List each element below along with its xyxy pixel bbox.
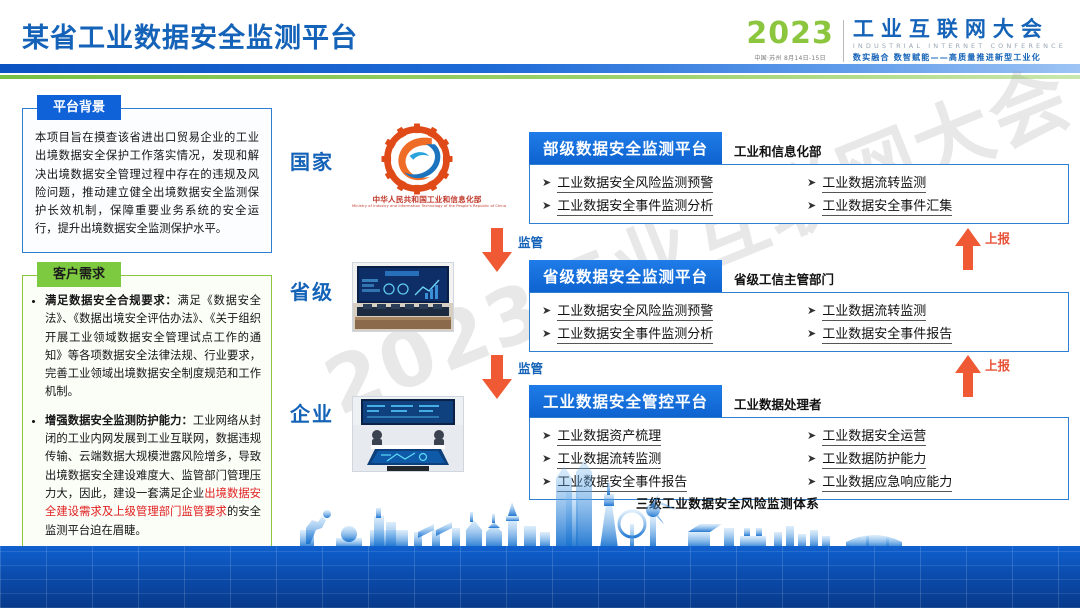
chevron-right-icon: ➤ [807,327,816,340]
feature-item[interactable]: ➤工业数据流转监测 [807,172,1062,193]
control-room-image [353,263,453,331]
provincial-platform-owner: 省级工信主管部门 [734,269,834,292]
floor-grid-pattern [0,546,1080,608]
conference-name-block: 工业互联网大会 INDUSTRIAL INTERNET CONFERENCE 数… [853,18,1066,63]
chevron-right-icon: ➤ [807,304,816,317]
conference-slogan: 数实融合 数智赋能——高质量推进新型工业化 [853,52,1066,63]
ministry-platform-owner: 工业和信息化部 [734,141,822,164]
list-item: 满足数据安全合规要求：满足《数据安全法》、《数据出境安全评估办法》、《关于组织开… [45,292,261,402]
platform-background-card: 平台背景 本项目旨在摸查该省进出口贸易企业的工业出境数据安全保护工作落实情况，发… [22,108,272,253]
enterprise-platform-owner: 工业数据处理者 [734,394,822,417]
conference-name-cn: 工业互联网大会 [853,18,1066,40]
report-label-1: 上报 [985,228,1010,247]
feature-label: 工业数据安全事件汇集 [822,195,952,216]
feature-item[interactable]: ➤工业数据流转监测 [807,300,1062,321]
chevron-right-icon: ➤ [542,429,551,442]
header-blue-rule [0,64,1080,73]
enterprise-platform-title[interactable]: 工业数据安全管控平台 [529,385,722,417]
floor-band [0,546,1080,608]
feature-label: 工业数据流转监测 [822,300,926,321]
conference-divider [843,20,844,62]
provincial-platform-features: ➤工业数据安全风险监测预警 ➤工业数据流转监测 ➤工业数据安全事件监测分析 ➤工… [529,292,1069,352]
slide-root: 某省工业数据安全监测平台 2023 中国·苏州 8月14日-15日 工业互联网大… [0,0,1080,608]
conference-date: 中国·苏州 8月14日-15日 [754,53,826,62]
platform-background-text: 本项目旨在摸查该省进出口贸易企业的工业出境数据安全保护工作落实情况，发现和解决出… [23,109,271,247]
gear-swoosh-icon [380,122,454,196]
feature-label: 工业数据安全事件报告 [822,323,952,344]
miit-logo: 中华人民共和国工业和信息化部 Ministry of Industry and … [352,122,502,218]
chevron-right-icon: ➤ [542,304,551,317]
feature-label: 工业数据安全运营 [822,425,926,446]
header-green-rule [0,75,1080,79]
page-title: 某省工业数据安全监测平台 [22,16,358,55]
miit-name-en: Ministry of Industry and Information Tec… [352,204,502,208]
feature-label: 工业数据资产梳理 [557,425,661,446]
platform-background-tab: 平台背景 [37,95,121,120]
chevron-right-icon: ➤ [807,199,816,212]
chevron-right-icon: ➤ [807,429,816,442]
level-label-enterprise: 企业 [290,398,334,427]
city-skyline-decoration [0,458,1080,548]
conference-year: 2023 [746,19,834,49]
feature-label: 工业数据安全风险监测预警 [557,300,713,321]
feature-label: 工业数据安全风险监测预警 [557,172,713,193]
ministry-platform-block: 部级数据安全监测平台 工业和信息化部 ➤工业数据安全风险监测预警 ➤工业数据流转… [529,132,1069,224]
feature-item[interactable]: ➤工业数据安全事件报告 [807,323,1062,344]
supervise-label-1: 监管 [518,232,543,251]
customer-needs-tab: 客户需求 [37,262,121,287]
feature-item[interactable]: ➤工业数据安全风险监测预警 [542,300,797,321]
feature-label: 工业数据安全事件监测分析 [557,323,713,344]
level-label-province: 省级 [290,276,334,305]
ministry-platform-features: ➤工业数据安全风险监测预警 ➤工业数据流转监测 ➤工业数据安全事件监测分析 ➤工… [529,164,1069,224]
feature-item[interactable]: ➤工业数据安全事件汇集 [807,195,1062,216]
chevron-right-icon: ➤ [542,199,551,212]
supervise-arrow-down-1 [482,228,512,272]
chevron-right-icon: ➤ [807,176,816,189]
enterprise-platform-header: 工业数据安全管控平台 工业数据处理者 [529,385,1069,417]
feature-item[interactable]: ➤工业数据安全风险监测预警 [542,172,797,193]
feature-label: 工业数据流转监测 [822,172,926,193]
provincial-platform-title[interactable]: 省级数据安全监测平台 [529,260,722,292]
need-lead-2: 增强数据安全监测防护能力： [45,414,193,427]
feature-item[interactable]: ➤工业数据安全事件监测分析 [542,323,797,344]
supervise-label-2: 监管 [518,358,543,377]
need-lead-1: 满足数据安全合规要求： [45,294,177,307]
level-label-national: 国家 [290,146,334,175]
supervise-arrow-down-2 [482,355,512,399]
provincial-platform-header: 省级数据安全监测平台 省级工信主管部门 [529,260,1069,292]
provincial-platform-block: 省级数据安全监测平台 省级工信主管部门 ➤工业数据安全风险监测预警 ➤工业数据流… [529,260,1069,352]
ministry-platform-title[interactable]: 部级数据安全监测平台 [529,132,722,164]
chevron-right-icon: ➤ [542,327,551,340]
conference-logo: 2023 中国·苏州 8月14日-15日 工业互联网大会 INDUSTRIAL … [746,18,1066,63]
provincial-control-room-photo [352,262,454,332]
feature-label: 工业数据安全事件监测分析 [557,195,713,216]
chevron-right-icon: ➤ [542,176,551,189]
feature-item[interactable]: ➤工业数据安全事件监测分析 [542,195,797,216]
report-label-2: 上报 [985,355,1010,374]
feature-item[interactable]: ➤工业数据安全运营 [807,425,1062,446]
conference-name-en: INDUSTRIAL INTERNET CONFERENCE [853,42,1066,50]
feature-item[interactable]: ➤工业数据资产梳理 [542,425,797,446]
conference-year-block: 2023 中国·苏州 8月14日-15日 [746,19,834,62]
ministry-platform-header: 部级数据安全监测平台 工业和信息化部 [529,132,1069,164]
need-body-1: 满足《数据安全法》、《数据出境安全评估办法》、《关于组织开展工业领域数据安全管理… [45,294,261,398]
